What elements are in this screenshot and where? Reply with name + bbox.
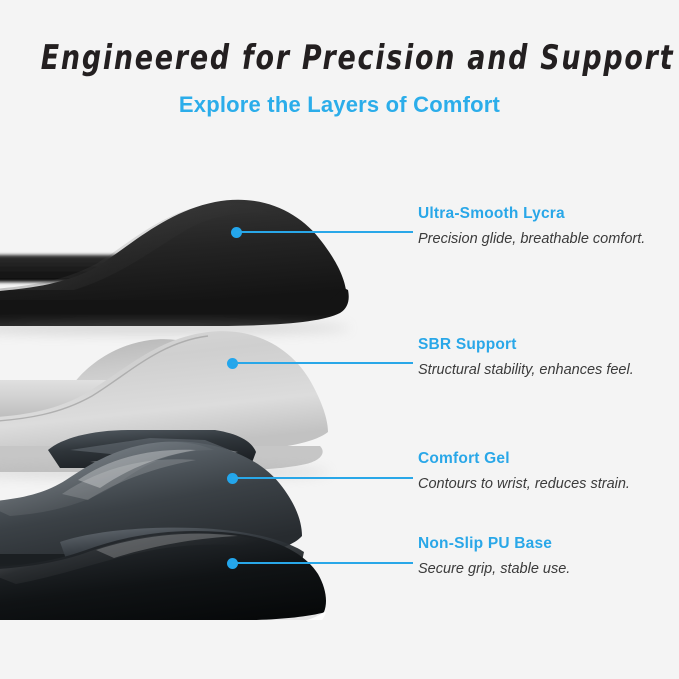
- product-layer-illustration: [0, 150, 430, 620]
- callout-description: Precision glide, breathable comfort.: [418, 229, 668, 250]
- callout-non-slip-pu-base: Non-Slip PU Base Secure grip, stable use…: [418, 535, 668, 580]
- callout-description: Contours to wrist, reduces strain.: [418, 474, 668, 495]
- callout-heading: Comfort Gel: [418, 450, 668, 468]
- callout-comfort-gel: Comfort Gel Contours to wrist, reduces s…: [418, 450, 668, 495]
- lycra-layer: [0, 200, 350, 334]
- callout-sbr-support: SBR Support Structural stability, enhanc…: [418, 336, 668, 381]
- callout-heading: SBR Support: [418, 336, 668, 354]
- leader-line-sbr: [232, 362, 413, 364]
- leader-line-lycra: [236, 231, 413, 233]
- leader-line-pu-base: [232, 562, 413, 564]
- page-subtitle: Explore the Layers of Comfort: [0, 92, 679, 118]
- callout-ultra-smooth-lycra: Ultra-Smooth Lycra Precision glide, brea…: [418, 205, 668, 250]
- callout-heading: Non-Slip PU Base: [418, 535, 668, 553]
- infographic-canvas: Engineered for Precision and Support Exp…: [0, 0, 679, 679]
- leader-line-gel: [232, 477, 413, 479]
- callout-description: Secure grip, stable use.: [418, 559, 668, 580]
- callout-heading: Ultra-Smooth Lycra: [418, 205, 668, 223]
- callout-description: Structural stability, enhances feel.: [418, 360, 668, 381]
- page-title: Engineered for Precision and Support: [41, 38, 639, 78]
